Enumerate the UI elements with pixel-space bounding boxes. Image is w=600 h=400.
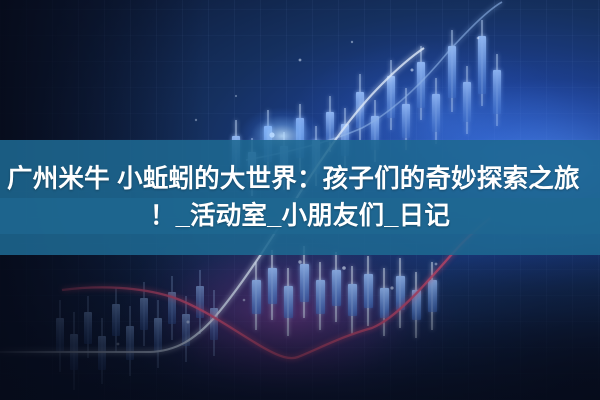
caption-band: 广州米牛 小蚯蚓的大世界：孩子们的奇妙探索之旅 ！_活动室_小朋友们_日记 <box>0 140 600 255</box>
caption-line-2: ！_活动室_小朋友们_日记 <box>0 198 600 234</box>
candlestick-group-lower-left <box>56 270 218 390</box>
caption-line-1: 广州米牛 小蚯蚓的大世界：孩子们的奇妙探索之旅 <box>0 161 600 197</box>
candlestick-group-lower-centre <box>252 246 437 338</box>
banner-image: 广州米牛 小蚯蚓的大世界：孩子们的奇妙探索之旅 ！_活动室_小朋友们_日记 <box>0 0 600 400</box>
upper-curve-line <box>246 2 502 160</box>
